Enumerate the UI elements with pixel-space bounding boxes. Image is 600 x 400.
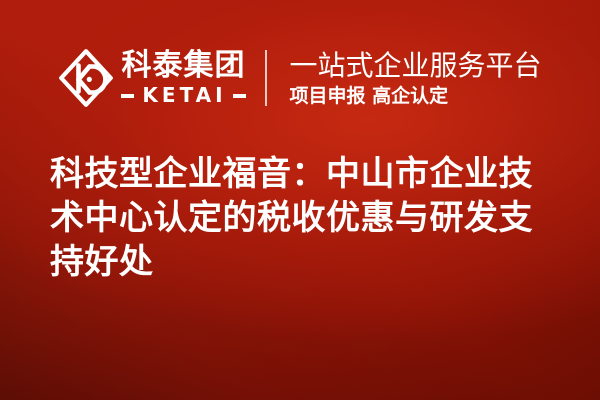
tagline-block: 一站式企业服务平台 项目申报 高企认定 (289, 42, 541, 114)
tagline-secondary: 项目申报 高企认定 (289, 85, 541, 107)
latin-rule-right-icon (233, 94, 246, 98)
brand-name-cn: 科泰集团 (121, 50, 245, 82)
brand-latin-row: KETAI (121, 85, 245, 106)
latin-rule-left-icon (121, 94, 134, 98)
ketai-diamond-kt-logo-icon (58, 48, 114, 108)
page-title: 科技型企业福音：中山市企业技术中心认定的税收优惠与研发支持好处 (50, 152, 566, 284)
brand-logo[interactable]: 科泰集团 KETAI (58, 42, 245, 114)
promo-banner: 科泰集团 KETAI 一站式企业服务平台 项目申报 高企认定 科技型企业福音：中… (0, 0, 600, 400)
banner-header: 科泰集团 KETAI 一站式企业服务平台 项目申报 高企认定 (0, 38, 600, 118)
brand-name-latin: KETAI (134, 85, 232, 106)
brand-wordmark: 科泰集团 KETAI (121, 50, 245, 106)
vertical-divider (265, 50, 267, 106)
tagline-primary: 一站式企业服务平台 (289, 50, 541, 81)
